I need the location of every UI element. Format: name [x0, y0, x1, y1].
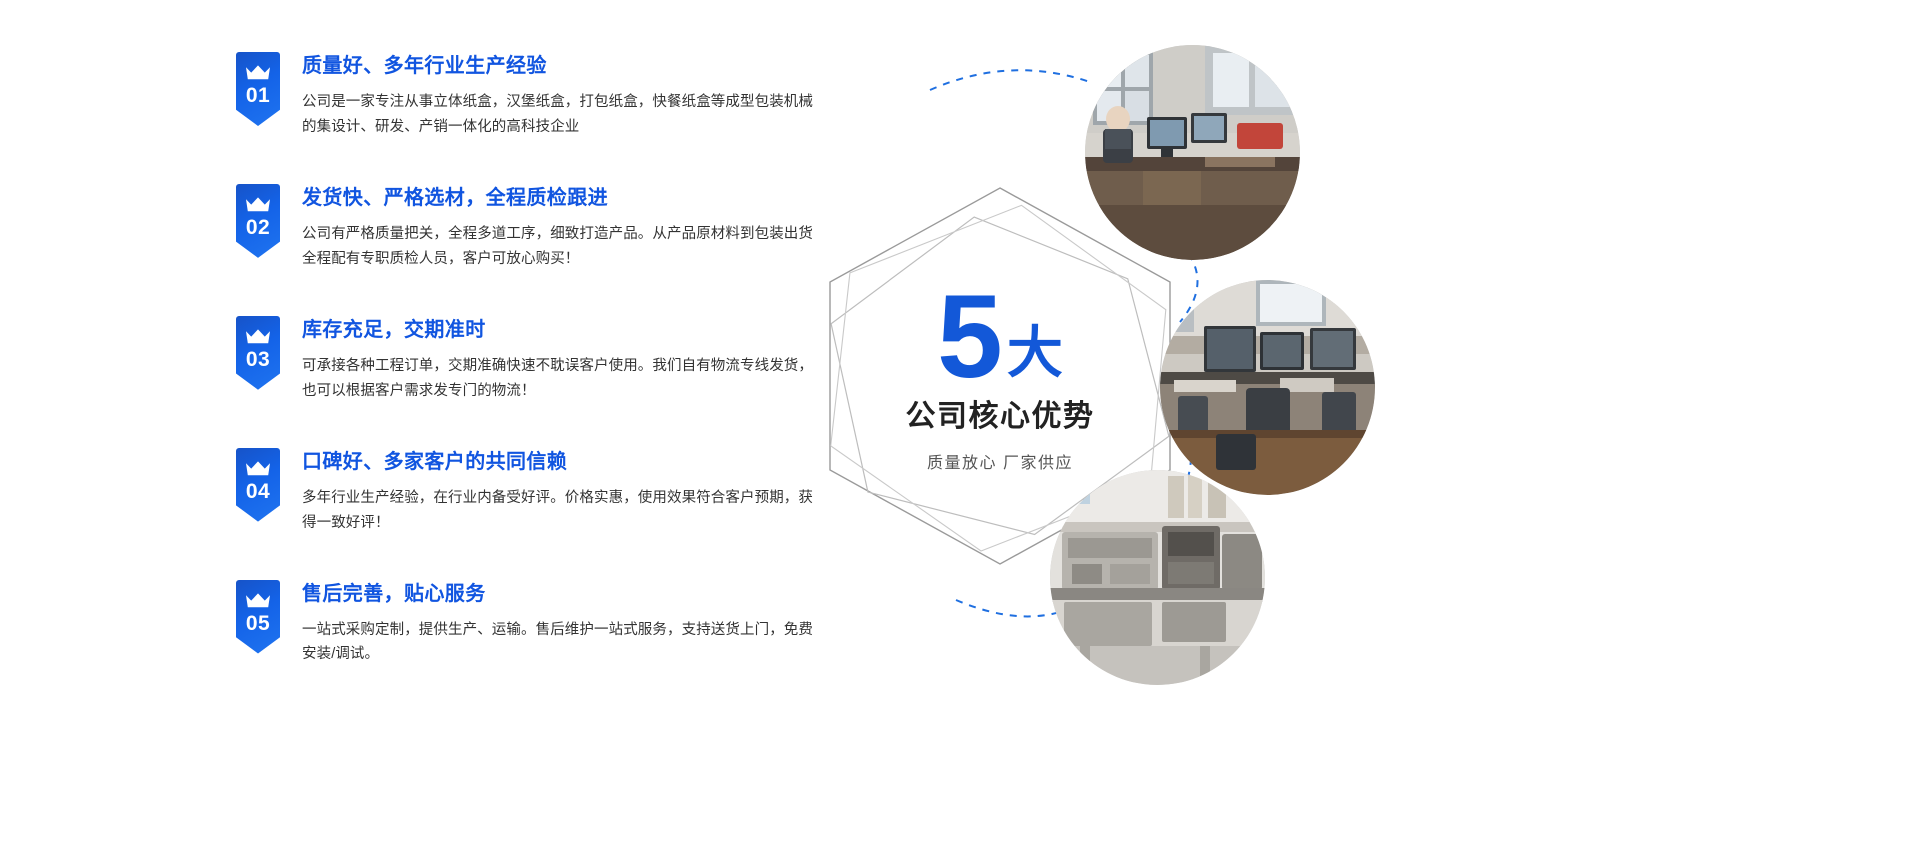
rank-badge-05: 05	[236, 580, 280, 654]
advantage-description: 公司有严格质量把关，全程多道工序，细致打造产品。从产品原材料到包装出货全程配有专…	[302, 222, 822, 272]
badge-number: 02	[246, 217, 270, 238]
headline-row: 5 大	[937, 287, 1063, 388]
badge-number: 03	[246, 349, 270, 370]
core-advantage-graphic: 5 大 公司核心优势 质量放心 厂家供应	[760, 0, 1920, 847]
advantage-description: 多年行业生产经验，在行业内备受好评。价格实惠，使用效果符合客户预期，获得一致好评…	[302, 486, 822, 536]
advantage-description: 可承接各种工程订单，交期准确快速不耽误客户使用。我们自有物流专线发货，也可以根据…	[302, 354, 822, 404]
advantage-count: 5	[937, 287, 1001, 388]
rank-badge-02: 02	[236, 184, 280, 258]
advantage-description: 公司是一家专注从事立体纸盒，汉堡纸盒，打包纸盒，快餐纸盒等成型包装机械的集设计、…	[302, 90, 822, 140]
advantage-description: 一站式采购定制，提供生产、运输。售后维护一站式服务，支持送货上门，免费安装/调试…	[302, 618, 822, 668]
badge-number: 04	[246, 481, 270, 502]
crown-icon	[245, 328, 271, 346]
crown-icon	[245, 196, 271, 214]
center-title: 公司核心优势	[906, 391, 1095, 435]
photo-office-desks	[1160, 280, 1375, 495]
rank-badge-01: 01	[236, 52, 280, 126]
photo-machine-workshop	[1050, 470, 1265, 685]
advantages-page: 01 质量好、多年行业生产经验 公司是一家专注从事立体纸盒，汉堡纸盒，打包纸盒，…	[0, 0, 1920, 847]
rank-badge-03: 03	[236, 316, 280, 390]
crown-icon	[245, 64, 271, 82]
crown-icon	[245, 592, 271, 610]
badge-number: 01	[246, 85, 270, 106]
crown-icon	[245, 460, 271, 478]
rank-badge-04: 04	[236, 448, 280, 522]
advantage-count-unit: 大	[1007, 325, 1063, 381]
photo-office-workstation	[1085, 45, 1300, 260]
center-subtitle: 质量放心 厂家供应	[927, 449, 1073, 473]
badge-number: 05	[246, 613, 270, 634]
